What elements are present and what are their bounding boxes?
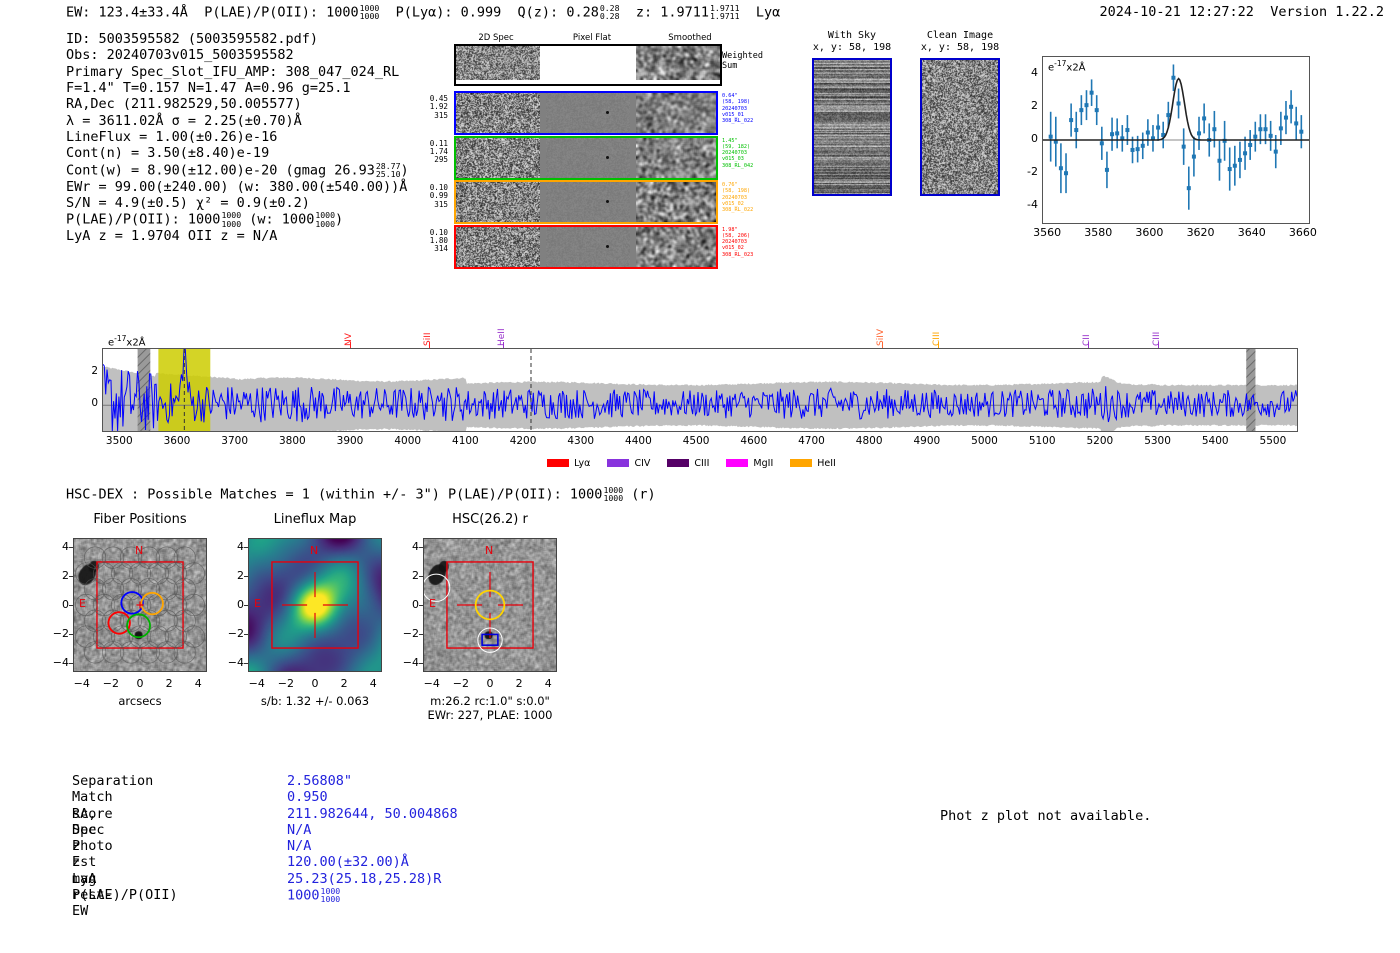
hscdex-plae-fraction: 10001000 — [603, 486, 623, 503]
object-info-block: ID: 5003595582 (5003595582.pdf) Obs: 202… — [66, 31, 409, 244]
legend-label: CIV — [634, 458, 650, 469]
cutout-xtick: 4 — [359, 677, 387, 690]
full-spectrum-xtick: 4800 — [849, 435, 889, 447]
header-ew: EW: 123.4±33.4Å — [66, 4, 188, 20]
spec2d-row — [454, 136, 718, 180]
image-thumbnails: With Skyx, y: 58, 198Clean Imagex, y: 58… — [812, 30, 1024, 252]
row-2dspec — [456, 93, 540, 133]
emission-line-tick — [938, 342, 939, 348]
match-table-value: 120.00(±32.00)Å — [287, 854, 409, 870]
emission-line-marker: CIII — [933, 312, 942, 346]
line-plot-ytick: -4 — [1020, 198, 1038, 211]
cutout-ytick: 0 — [224, 598, 244, 611]
full-spectrum-xtick: 4000 — [388, 435, 428, 447]
row-2dspec — [456, 138, 540, 178]
legend-label: CIII — [694, 458, 709, 469]
line-plot-ytick: -2 — [1020, 165, 1038, 178]
emission-line-marker: NV — [345, 312, 354, 346]
legend-item: Lyα — [547, 458, 590, 469]
legend-item: HeII — [790, 458, 836, 469]
cutout-xtick: 2 — [330, 677, 358, 690]
row-right-meta: 0.76"(58, 198)20240703v015_02308_RL_022 — [722, 182, 770, 213]
match-table-value: 2.56808" — [287, 773, 352, 789]
cutout-xtick: −2 — [272, 677, 300, 690]
north-label: N — [485, 544, 493, 557]
info-obs: Obs: 20240703v015_5003595582 — [66, 47, 409, 63]
row-pixelflat — [546, 182, 630, 222]
cutout-ytick: 4 — [399, 540, 419, 553]
legend-label: HeII — [817, 458, 836, 469]
emission-line-tick — [882, 342, 883, 348]
header-z-type: Lyα — [756, 4, 780, 20]
legend-swatch — [790, 459, 812, 467]
emission-line-tick — [1088, 342, 1089, 348]
emission-line-tick — [1158, 342, 1159, 348]
cutout-image-lineflux — [248, 538, 382, 672]
info-ewr: EWr = 99.00(±240.00) (w: 380.00(±540.00)… — [66, 179, 409, 195]
full-spectrum-ytick: 2 — [82, 365, 98, 377]
thumbnail-with-sky — [812, 58, 892, 196]
full-spectrum-xtick: 5200 — [1080, 435, 1120, 447]
full-spectrum-xtick: 3600 — [157, 435, 197, 447]
cutout-xtick: 2 — [155, 677, 183, 690]
row-pixelflat — [546, 93, 630, 133]
cutout-ytick: −4 — [49, 656, 69, 669]
full-spectrum-xtick: 5400 — [1195, 435, 1235, 447]
info-cont-w: Cont(w) = 8.90(±12.00)e-20 (gmag 26.9328… — [66, 162, 409, 179]
hsc-ew-plae-line: EWr: 227, PLAE: 1000 — [383, 708, 597, 722]
header-z: z: 1.9711 — [636, 4, 709, 20]
row-2dspec — [456, 182, 540, 222]
info-cont-n: Cont(n) = 3.50(±8.40)e-19 — [66, 145, 409, 161]
info-gmag-fraction: 28.7725.10 — [376, 162, 401, 179]
east-label: E — [429, 597, 436, 610]
cutout-ytick: 2 — [399, 569, 419, 582]
legend-item: MgII — [726, 458, 773, 469]
row-smoothed — [636, 138, 718, 178]
full-spectrum-xtick: 4300 — [561, 435, 601, 447]
full-spectrum-frame — [102, 348, 1298, 432]
cutout-ytick: 0 — [49, 598, 69, 611]
timestamp: 2024-10-21 12:27:22 — [1100, 4, 1254, 20]
full-spectrum-xtick: 3500 — [99, 435, 139, 447]
line-plot-ytick: 2 — [1020, 99, 1038, 112]
match-table-key: P(LAE)/P(OII) — [72, 887, 178, 903]
match-table-fraction: 10001000 — [321, 887, 341, 904]
full-spectrum-xtick: 4600 — [734, 435, 774, 447]
north-label: N — [135, 544, 143, 557]
header-z-fraction: 1.97111.9711 — [710, 4, 740, 21]
match-table-key: mag — [72, 871, 96, 887]
cutout-ytick: −4 — [399, 656, 419, 669]
header-plae: P(LAE)/P(OII): 1000 — [204, 4, 358, 20]
pixelflat-marker — [606, 156, 609, 159]
row-pixelflat — [546, 138, 630, 178]
row-smoothed — [636, 182, 718, 222]
legend-label: MgII — [753, 458, 773, 469]
line-plot-xtick: 3640 — [1236, 226, 1268, 239]
cutout-image-fiber — [73, 538, 207, 672]
info-lineflux: LineFlux = 1.00(±0.26)e-16 — [66, 129, 409, 145]
emission-line-plot: e-17x2Å356035803600362036403660-4-2024 — [1032, 48, 1314, 253]
cutout-ytick: 4 — [49, 540, 69, 553]
legend-item: CIV — [607, 458, 650, 469]
full-spectrum-xtick: 3800 — [272, 435, 312, 447]
emission-line-tick — [429, 342, 430, 348]
row-left-stats: 0.111.74295 — [420, 140, 448, 165]
line-plot-ytick: 4 — [1020, 66, 1038, 79]
match-table-value: 25.23(25.18,25.28)R — [287, 871, 441, 887]
full-spectrum-xtick: 3700 — [215, 435, 255, 447]
spec2d-panel-group: 2D Spec Pixel Flat Smoothed WeightedSum0… — [432, 33, 762, 258]
match-table-value: 100010001000 — [287, 887, 340, 904]
full-spectrum-xtick: 4500 — [676, 435, 716, 447]
cutout-title: Lineflux Map — [218, 512, 412, 527]
east-label: E — [79, 597, 86, 610]
row-2dspec — [456, 227, 540, 267]
thumbnail-clean-image — [920, 58, 1000, 196]
line-plot-ytick: 0 — [1020, 132, 1038, 145]
cutout-ytick: 2 — [49, 569, 69, 582]
full-spectrum-xtick: 5300 — [1138, 435, 1178, 447]
row-left-stats: 0.100.99315 — [420, 184, 448, 209]
line-plot-xtick: 3580 — [1082, 226, 1114, 239]
row-left-stats: 0.101.80314 — [420, 229, 448, 254]
row-left-stats: 0.451.92315 — [420, 95, 448, 120]
line-plot-xtick: 3560 — [1031, 226, 1063, 239]
pixelflat-marker — [606, 245, 609, 248]
row-smoothed — [636, 93, 718, 133]
full-spectrum-plot: e-17x2Å350036003700380039004000410042004… — [80, 312, 1300, 477]
info-wavelength: λ = 3611.02Å σ = 2.25(±0.70)Å — [66, 113, 409, 129]
line-plot-units: e-17x2Å — [1048, 59, 1086, 73]
version: Version 1.22.2 — [1270, 4, 1384, 20]
full-spectrum-ytick: 0 — [82, 397, 98, 409]
hsc-photometry-line: m:26.2 rc:1.0" s:0.0" — [383, 694, 597, 708]
header-plae-fraction: 10001000 — [360, 4, 380, 21]
info-plae-w-fraction: 10001000 — [315, 211, 335, 228]
line-plot-frame — [1042, 56, 1310, 224]
cutout-ytick: −2 — [399, 627, 419, 640]
cutout-xtick: −4 — [243, 677, 271, 690]
weighted-sum-smoothed — [636, 46, 720, 80]
legend-item: CIII — [667, 458, 709, 469]
info-seeing: F=1.4" T=0.157 N=1.47 A=0.96 g=25.1 — [66, 80, 409, 96]
emission-line-marker: CIII — [1153, 312, 1162, 346]
cutout-xtick: −2 — [447, 677, 475, 690]
col-title-pixelflat: Pixel Flat — [550, 33, 634, 43]
legend-swatch — [607, 459, 629, 467]
legend-swatch — [726, 459, 748, 467]
cutout-xtick: 0 — [476, 677, 504, 690]
thumbnail-title: Clean Imagex, y: 58, 198 — [902, 30, 1018, 54]
info-snr: S/N = 4.9(±0.5) χ² = 0.9(±0.2) — [66, 195, 409, 211]
match-table-value: N/A — [287, 822, 311, 838]
legend-swatch — [667, 459, 689, 467]
east-label: E — [254, 597, 261, 610]
full-spectrum-xtick: 3900 — [330, 435, 370, 447]
cutout-ytick: 0 — [399, 598, 419, 611]
cutout-xtick: −4 — [418, 677, 446, 690]
line-plot-xtick: 3620 — [1185, 226, 1217, 239]
cutout-subcaption: m:26.2 rc:1.0" s:0.0"EWr: 227, PLAE: 100… — [383, 694, 597, 722]
header-qz-fraction: 0.280.28 — [600, 4, 620, 21]
cutout-ytick: −2 — [224, 627, 244, 640]
info-primary-slot: Primary Spec_Slot_IFU_AMP: 308_047_024_R… — [66, 64, 409, 80]
spec2d-row — [454, 180, 718, 224]
timestamp-version: 2024-10-21 12:27:22 Version 1.22.2 — [1100, 4, 1385, 20]
hscdex-header-band: (r) — [631, 486, 655, 502]
header-qz: Q(z): 0.28 — [518, 4, 599, 20]
full-spectrum-xtick: 5500 — [1253, 435, 1293, 447]
info-plae-fraction: 10001000 — [221, 211, 241, 228]
row-right-meta: 0.64"(58, 198)20240703v015_01308_RL_022 — [722, 93, 770, 124]
spectrum-legend: LyαCIVCIIIMgIIHeII — [102, 452, 1298, 471]
col-title-smoothed: Smoothed — [648, 33, 732, 43]
hscdex-header-text: HSC-DEX : Possible Matches = 1 (within +… — [66, 486, 602, 502]
cutout-xtick: 0 — [301, 677, 329, 690]
weighted-sum-2dspec — [456, 46, 540, 80]
cutout-xtick: 4 — [184, 677, 212, 690]
full-spectrum-xtick: 4900 — [907, 435, 947, 447]
hscdex-header: HSC-DEX : Possible Matches = 1 (within +… — [66, 486, 656, 503]
emission-line-marker: HeII — [498, 312, 507, 346]
cutout-xtick: 4 — [534, 677, 562, 690]
col-title-2dspec: 2D Spec — [454, 33, 538, 43]
emission-line-tick — [503, 342, 504, 348]
info-plae: P(LAE)/P(OII): 100010001000 (w: 10001000… — [66, 211, 409, 228]
line-plot-xtick: 3660 — [1287, 226, 1319, 239]
emission-line-tick — [350, 342, 351, 348]
row-smoothed — [636, 227, 718, 267]
match-table-value: 211.982644, 50.004868 — [287, 806, 458, 822]
emission-line-marker: SiIV — [877, 312, 886, 346]
spec2d-row — [454, 91, 718, 135]
full-spectrum-xtick: 5000 — [965, 435, 1005, 447]
spec2d-row — [454, 225, 718, 269]
cutout-ytick: 4 — [224, 540, 244, 553]
row-right-meta: 1.98"(58, 206)20240703v015_02308_RL_023 — [722, 227, 770, 258]
cutout-xtick: −4 — [68, 677, 96, 690]
thumbnail-title: With Skyx, y: 58, 198 — [794, 30, 910, 54]
emission-line-marker: CII — [1083, 312, 1092, 346]
full-spectrum-xtick: 5100 — [1022, 435, 1062, 447]
summary-header: EW: 123.4±33.4Å P(LAE)/P(OII): 100010001… — [66, 4, 780, 21]
cutout-image-hsc — [423, 538, 557, 672]
row-pixelflat — [546, 227, 630, 267]
full-spectrum-xtick: 4100 — [445, 435, 485, 447]
emission-line-marker: SiII — [424, 312, 433, 346]
header-plya: P(Lyα): 0.999 — [396, 4, 502, 20]
cutout-xtick: 2 — [505, 677, 533, 690]
legend-swatch — [547, 459, 569, 467]
full-spectrum-xtick: 4200 — [503, 435, 543, 447]
cutout-title: Fiber Positions — [43, 512, 237, 527]
match-table-value: N/A — [287, 838, 311, 854]
match-table-value: 0.950 — [287, 789, 328, 805]
cutout-ytick: 2 — [224, 569, 244, 582]
weighted-sum-row — [454, 44, 722, 86]
cutout-panel-group: Fiber Positions420−2−4−4−2024NEarcsecsLi… — [55, 512, 625, 712]
cutout-ytick: −2 — [49, 627, 69, 640]
cutout-xtick: −2 — [97, 677, 125, 690]
legend-label: Lyα — [574, 458, 590, 469]
pixelflat-marker — [606, 111, 609, 114]
info-id: ID: 5003595582 (5003595582.pdf) — [66, 31, 409, 47]
info-radec: RA,Dec (211.982529,50.005577) — [66, 96, 409, 112]
line-plot-xtick: 3600 — [1133, 226, 1165, 239]
full-spectrum-units: e-17x2Å — [108, 334, 146, 348]
north-label: N — [310, 544, 318, 557]
cutout-ytick: −4 — [224, 656, 244, 669]
pixelflat-marker — [606, 200, 609, 203]
full-spectrum-xtick: 4400 — [618, 435, 658, 447]
full-spectrum-xtick: 4700 — [791, 435, 831, 447]
cutout-xtick: 0 — [126, 677, 154, 690]
weighted-sum-label: WeightedSum — [722, 51, 768, 71]
match-table-key: Separation — [72, 773, 153, 789]
cutout-title: HSC(26.2) r — [393, 512, 587, 527]
info-redshifts: LyA z = 1.9704 OII z = N/A — [66, 228, 409, 244]
photz-plot-message: Phot z plot not available. — [940, 808, 1151, 824]
row-right-meta: 1.45"(59, 182)20240703v015_03308_RL_042 — [722, 138, 770, 169]
